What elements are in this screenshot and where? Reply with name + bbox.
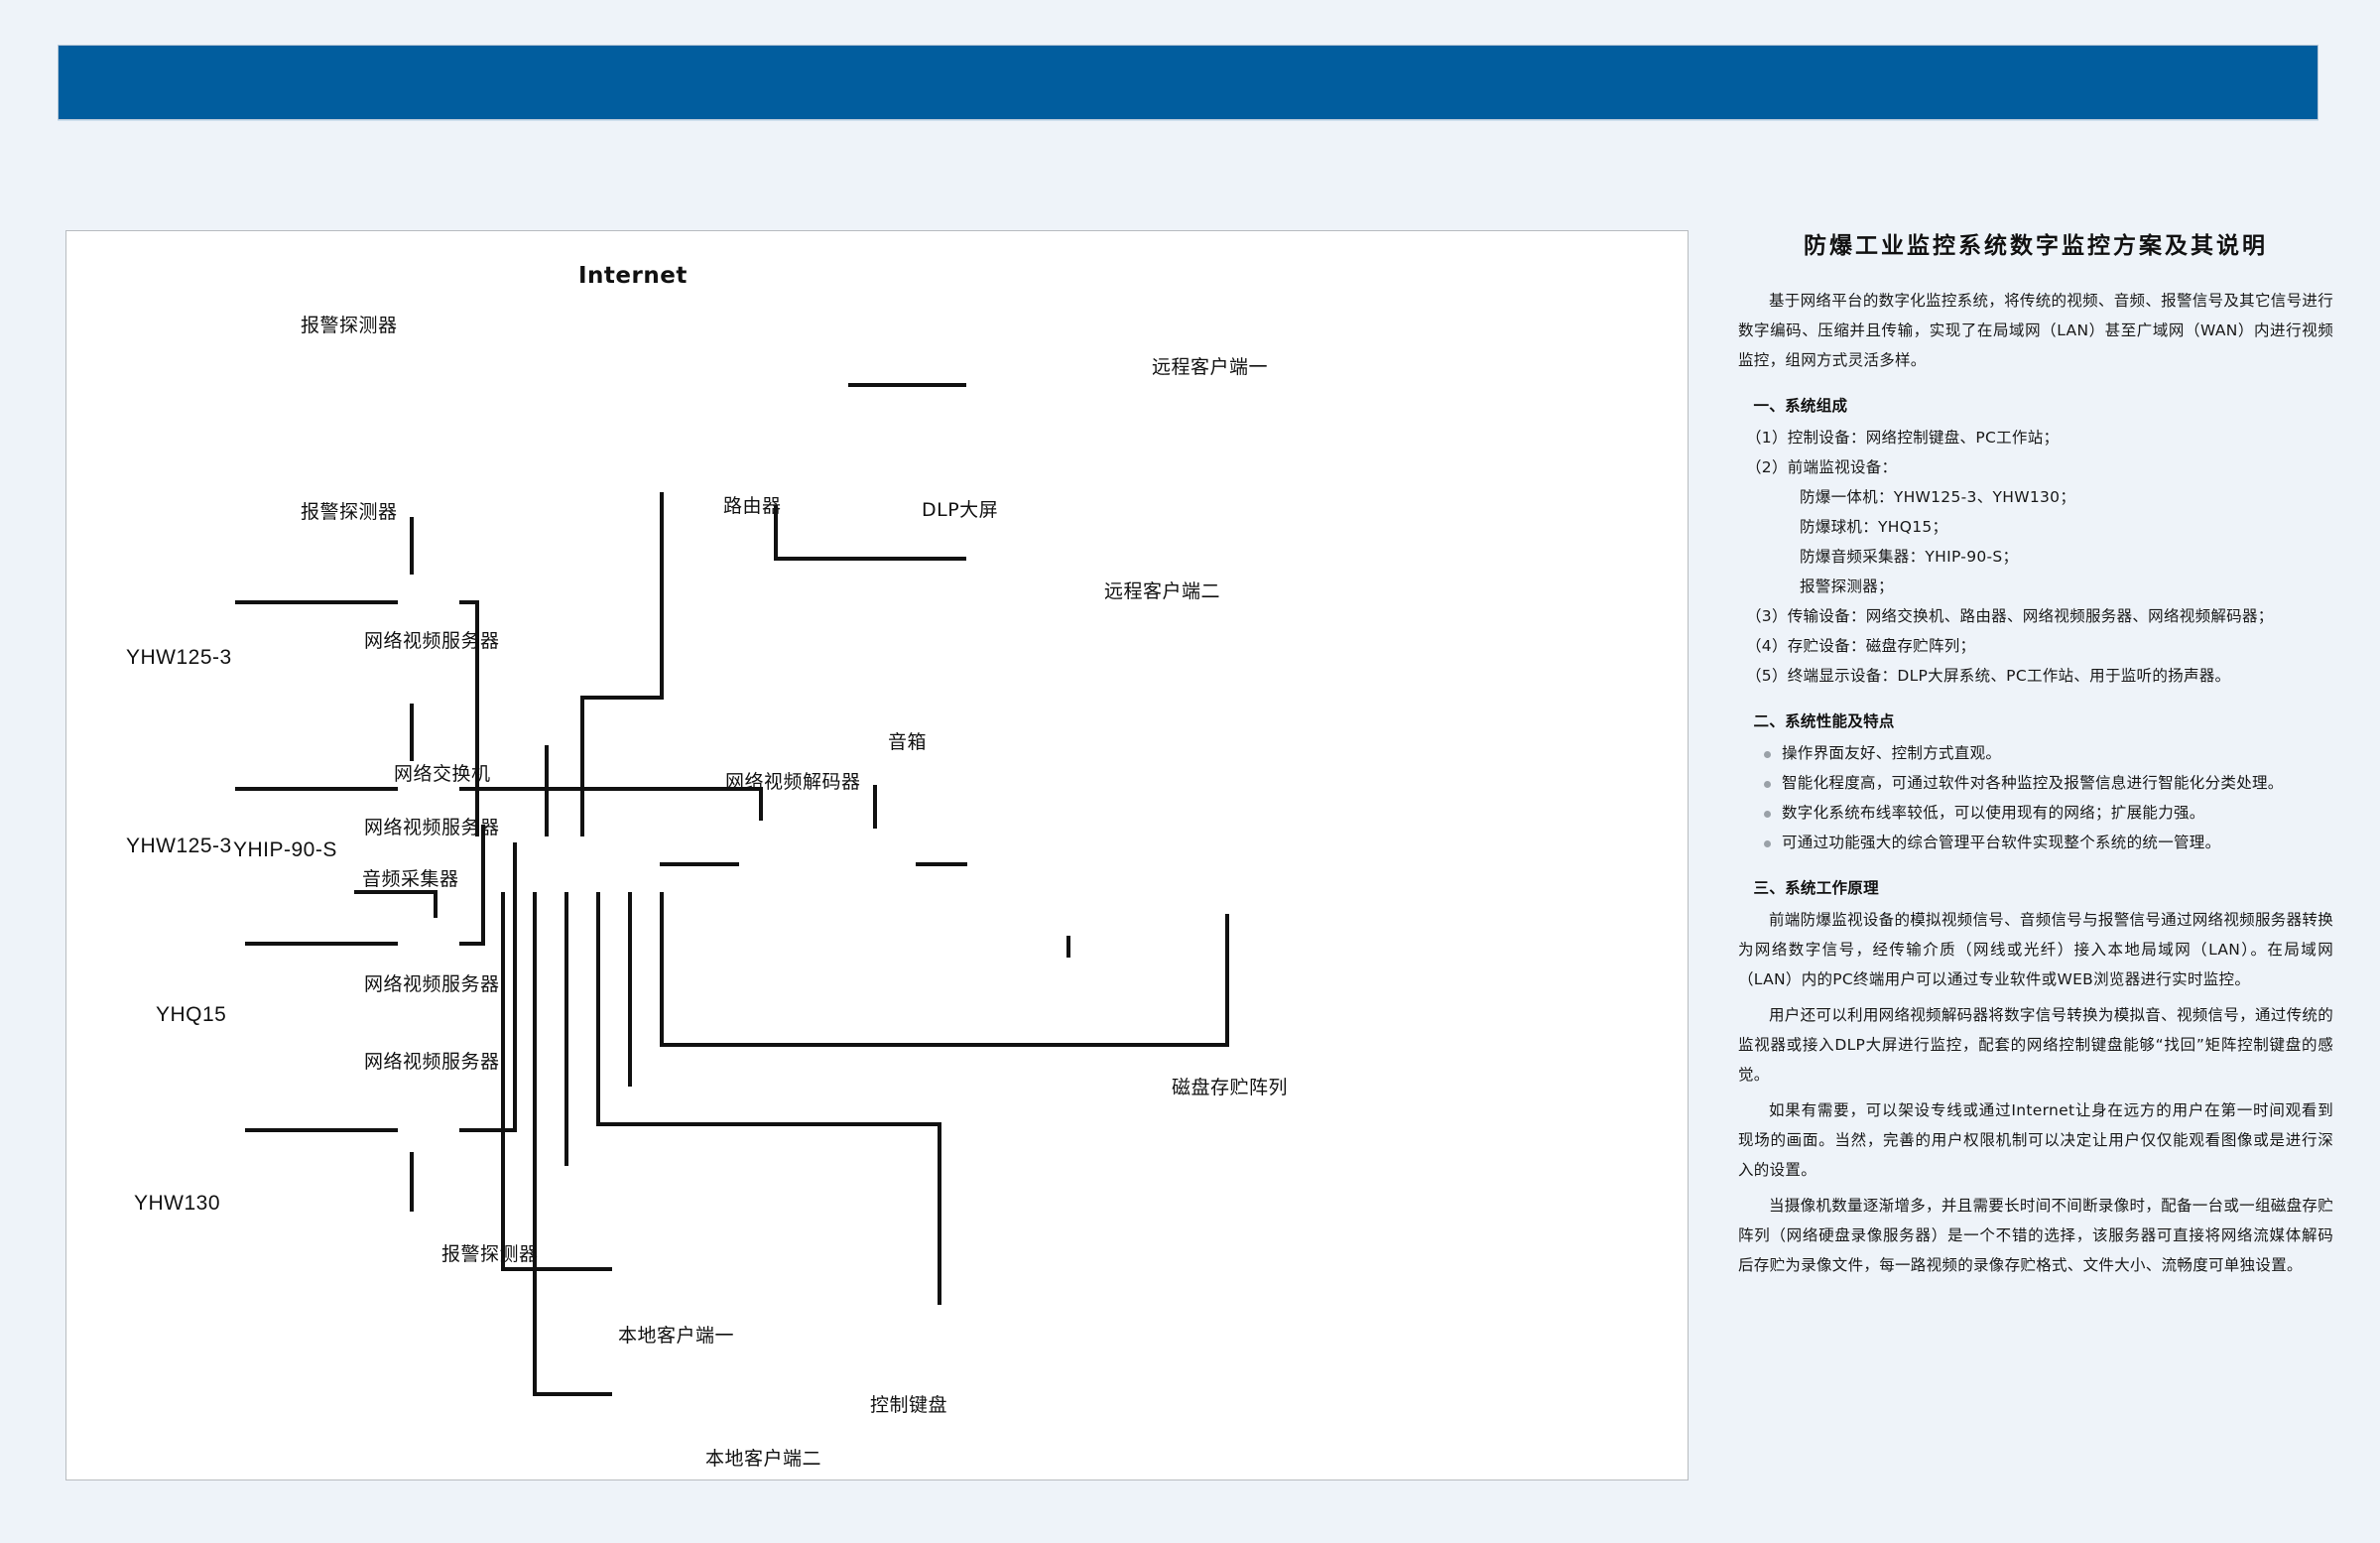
section-1-item-4: （4）存贮设备：磁盘存贮阵列； <box>1738 631 2333 661</box>
label-network-video-server-3: 网络视频服务器 <box>364 969 500 996</box>
section-1-item-2: （2）前端监视设备： <box>1738 452 2333 482</box>
section-1-subitem-1: 防爆一体机：YHW125-3、YHW130； <box>1738 482 2333 512</box>
section-1-item-5: （5）终端显示设备：DLP大屏系统、PC工作站、用于监听的扬声器。 <box>1738 661 2333 691</box>
section-1-subitem-2: 防爆球机：YHQ15； <box>1738 512 2333 542</box>
label-network-video-server-1: 网络视频服务器 <box>364 626 500 653</box>
label-camera-yhw125-3-top: YHW125-3 <box>126 646 232 670</box>
section-1-heading: 一、系统组成 <box>1738 391 2333 421</box>
section-3-paragraph-4: 当摄像机数量逐渐增多，并且需要长时间不间断录像时，配备一台或一组磁盘存贮阵列（网… <box>1738 1191 2333 1280</box>
label-internet: Internet <box>578 263 688 289</box>
section-2-bullet-1: 操作界面友好、控制方式直观。 <box>1738 738 2333 768</box>
section-2-bullet-3: 数字化系统布线率较低，可以使用现有的网络；扩展能力强。 <box>1738 798 2333 828</box>
label-speakers: 音箱 <box>888 727 927 754</box>
section-3-paragraph-3: 如果有需要，可以架设专线或通过Internet让身在远方的用户在第一时间观看到现… <box>1738 1095 2333 1185</box>
article-panel: 防爆工业监控系统数字监控方案及其说明 基于网络平台的数字化监控系统，将传统的视频… <box>1738 226 2333 1516</box>
label-control-keyboard: 控制键盘 <box>870 1390 947 1417</box>
label-video-decoder: 网络视频解码器 <box>725 767 861 794</box>
section-3-paragraph-1: 前端防爆监视设备的模拟视频信号、音频信号与报警信号通过网络视频服务器转换为网络数… <box>1738 905 2333 994</box>
label-alarm-detector-3: 报警探测器 <box>441 1239 539 1266</box>
article-intro: 基于网络平台的数字化监控系统，将传统的视频、音频、报警信号及其它信号进行数字编码… <box>1738 286 2333 375</box>
section-1-item-3: （3）传输设备：网络交换机、路由器、网络视频服务器、网络视频解码器； <box>1738 601 2333 631</box>
diagram-canvas: YHW125-3 报警探测器 网络视频服 <box>66 231 1688 1479</box>
label-dlp: DLP大屏 <box>922 495 998 522</box>
label-router: 路由器 <box>723 491 782 518</box>
label-network-switch: 网络交换机 <box>394 759 491 786</box>
section-1-subitem-4: 报警探测器； <box>1738 572 2333 601</box>
label-local-client-1: 本地客户端一 <box>618 1321 734 1348</box>
label-camera-yhq15: YHQ15 <box>156 1003 226 1027</box>
label-camera-yhw130: YHW130 <box>134 1192 220 1216</box>
label-alarm-detector-1: 报警探测器 <box>301 311 398 337</box>
label-network-video-server-4: 网络视频服务器 <box>364 1047 500 1074</box>
section-3-heading: 三、系统工作原理 <box>1738 873 2333 903</box>
label-remote-client-2: 远程客户端二 <box>1104 577 1220 603</box>
label-disk-storage-array: 磁盘存贮阵列 <box>1172 1073 1288 1099</box>
label-local-client-2: 本地客户端二 <box>705 1444 821 1471</box>
network-diagram-panel: YHW125-3 报警探测器 网络视频服 <box>65 230 1689 1480</box>
section-1-subitem-3: 防爆音频采集器：YHIP-90-S； <box>1738 542 2333 572</box>
section-2-bullet-2: 智能化程度高，可通过软件对各种监控及报警信息进行智能化分类处理。 <box>1738 768 2333 798</box>
section-2-heading: 二、系统性能及特点 <box>1738 707 2333 736</box>
article-title: 防爆工业监控系统数字监控方案及其说明 <box>1738 226 2333 260</box>
page-root: YHW125-3 报警探测器 网络视频服 <box>0 0 2380 1543</box>
label-network-video-server-2: 网络视频服务器 <box>364 813 500 839</box>
label-camera-yhw125-3-second: YHW125-3 <box>126 835 232 858</box>
label-audio-collector: 音频采集器 <box>362 864 459 891</box>
label-yhip-90-s: YHIP-90-S <box>233 838 337 862</box>
label-remote-client-1: 远程客户端一 <box>1152 352 1268 379</box>
section-1-item-1: （1）控制设备：网络控制键盘、PC工作站； <box>1738 423 2333 452</box>
top-banner <box>58 45 2318 120</box>
label-alarm-detector-2: 报警探测器 <box>301 497 398 524</box>
section-2-bullet-4: 可通过功能强大的综合管理平台软件实现整个系统的统一管理。 <box>1738 828 2333 857</box>
section-3-paragraph-2: 用户还可以利用网络视频解码器将数字信号转换为模拟音、视频信号，通过传统的监视器或… <box>1738 1000 2333 1090</box>
